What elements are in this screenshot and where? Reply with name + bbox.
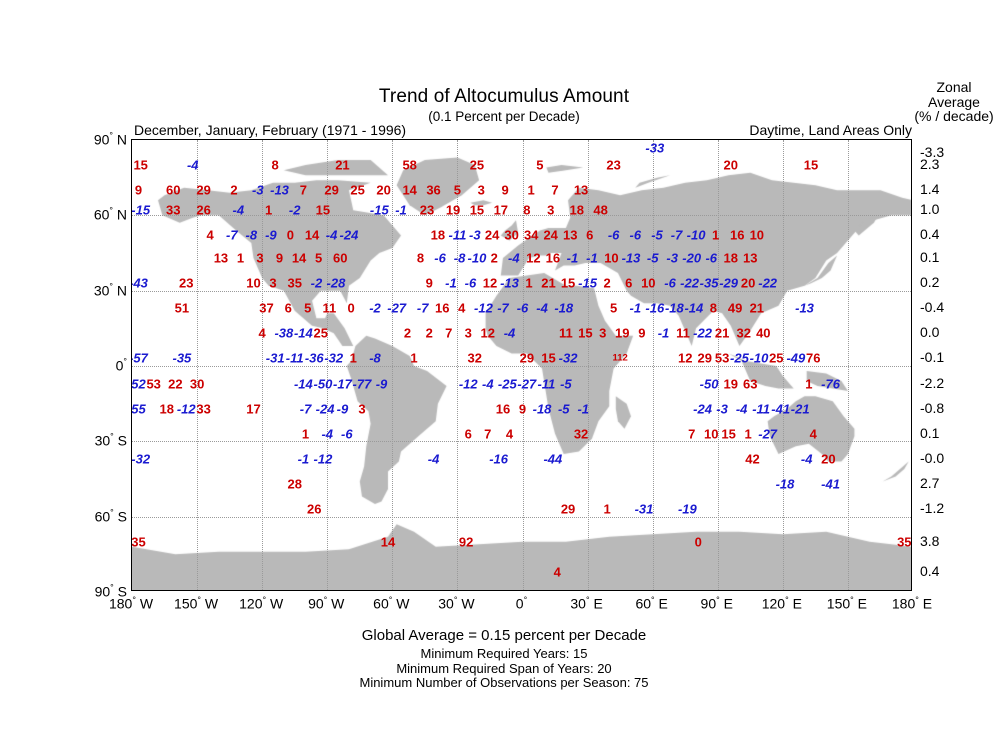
- trend-value: -3: [469, 229, 481, 242]
- trend-value: 8: [710, 302, 717, 315]
- trend-value: 29: [520, 352, 534, 365]
- trend-value: -13: [622, 252, 641, 265]
- trend-value: -6: [664, 277, 676, 290]
- trend-value: -4: [321, 427, 333, 440]
- trend-value: 13: [563, 229, 577, 242]
- trend-value: 40: [756, 327, 770, 340]
- trend-value: 12: [481, 327, 495, 340]
- zonal-average-value: 0.0: [920, 324, 976, 340]
- zonal-average-value: 3.8: [920, 533, 976, 549]
- trend-value: -1: [658, 327, 670, 340]
- gridline-horizontal: [132, 517, 911, 518]
- trend-value: 20: [741, 277, 755, 290]
- trend-value: 35: [897, 535, 911, 548]
- trend-value: -2: [311, 277, 323, 290]
- trend-value: 9: [638, 327, 645, 340]
- trend-value: 48: [593, 204, 607, 217]
- trend-value: 14: [381, 535, 395, 548]
- gridline-vertical: [262, 140, 263, 590]
- map-plot-area: -3315-482158255232015960292-3-1372925201…: [131, 139, 912, 591]
- zonal-average-value: 0.4: [920, 563, 976, 579]
- trend-value: 18: [159, 402, 173, 415]
- trend-value: 13: [574, 184, 588, 197]
- trend-value: 11: [676, 327, 690, 340]
- gridline-horizontal: [132, 366, 911, 367]
- trend-value: 29: [196, 184, 210, 197]
- trend-value: -6: [705, 252, 717, 265]
- trend-value: 25: [769, 352, 783, 365]
- trend-value: 35: [287, 277, 301, 290]
- zonal-average-value: 0.1: [920, 249, 976, 265]
- gridline-horizontal: [132, 291, 911, 292]
- trend-value: 26: [196, 204, 210, 217]
- min-span-text: Minimum Required Span of Years: 20: [0, 662, 1008, 677]
- trend-value: 23: [606, 159, 620, 172]
- trend-value: 5: [454, 184, 461, 197]
- trend-value: -4: [536, 302, 548, 315]
- trend-value: 8: [523, 204, 530, 217]
- zonal-average-value: 1.0: [920, 201, 976, 217]
- latitude-tick-label: 60° N: [73, 206, 127, 223]
- trend-value: -6: [517, 302, 529, 315]
- trend-value: -11: [752, 402, 770, 415]
- trend-value: 12: [678, 352, 692, 365]
- trend-value: -1: [567, 252, 579, 265]
- trend-value: 63: [743, 377, 757, 390]
- trend-value: -18: [554, 302, 573, 315]
- trend-value: -77: [353, 377, 372, 390]
- trend-value: -7: [226, 229, 238, 242]
- trend-value: 3: [269, 277, 276, 290]
- trend-value: -10: [468, 252, 487, 265]
- gridline-horizontal: [132, 215, 911, 216]
- trend-value: 1: [237, 252, 244, 265]
- trend-value: 2: [426, 327, 433, 340]
- trend-value: 14: [292, 252, 306, 265]
- trend-value: -52: [131, 377, 146, 390]
- trend-value: 53: [715, 352, 729, 365]
- zonal-average-value: -0.1: [920, 349, 976, 365]
- trend-value: 1: [410, 352, 417, 365]
- trend-value: 9: [426, 277, 433, 290]
- trend-value: 3: [358, 402, 365, 415]
- trend-value: -43: [131, 277, 148, 290]
- trend-value: -17: [333, 377, 352, 390]
- global-average-text: Global Average = 0.15 percent per Decade: [0, 627, 1008, 644]
- longitude-tick-label: 30° W: [438, 595, 474, 612]
- trend-value: 15: [541, 352, 555, 365]
- trend-value: -14: [294, 327, 313, 340]
- trend-value: -13: [500, 277, 519, 290]
- trend-value: 0: [695, 535, 702, 548]
- trend-value: 1: [265, 204, 272, 217]
- trend-value: -24: [316, 402, 335, 415]
- trend-value: -5: [558, 402, 570, 415]
- trend-value: -20: [682, 252, 701, 265]
- trend-value: -6: [608, 229, 620, 242]
- trend-value: 15: [133, 159, 147, 172]
- trend-value: 1: [712, 229, 719, 242]
- longitude-axis: 180° W150° W120° W90° W60° W30° W0° 30° …: [0, 595, 1008, 619]
- longitude-tick-label: 150° W: [174, 595, 218, 612]
- trend-value: 11: [323, 302, 337, 315]
- trend-value: -11: [286, 352, 304, 365]
- trend-value: -6: [341, 427, 353, 440]
- trend-value: 2: [230, 184, 237, 197]
- trend-value: -12: [459, 377, 478, 390]
- trend-value: -3: [666, 252, 678, 265]
- trend-value: 13: [214, 252, 228, 265]
- zonal-average-value: -0.8: [920, 400, 976, 416]
- trend-value: -11: [537, 377, 555, 390]
- coverage-label: Daytime, Land Areas Only: [749, 122, 912, 138]
- trend-value: -4: [187, 159, 199, 172]
- trend-value: 7: [688, 427, 695, 440]
- trend-value: 7: [484, 427, 491, 440]
- trend-value: 32: [574, 427, 588, 440]
- trend-value: -4: [326, 229, 338, 242]
- trend-value: 2: [491, 252, 498, 265]
- trend-value: -4: [428, 452, 440, 465]
- trend-value: 21: [335, 159, 349, 172]
- trend-value: 15: [721, 427, 735, 440]
- trend-value: -57: [131, 352, 148, 365]
- trend-value: 24: [485, 229, 499, 242]
- trend-value: 33: [196, 402, 210, 415]
- trend-value: 16: [730, 229, 744, 242]
- trend-value: 3: [547, 204, 554, 217]
- trend-value: 6: [465, 427, 472, 440]
- trend-value: -24: [693, 402, 712, 415]
- trend-value: 13: [743, 252, 757, 265]
- trend-value: 10: [750, 229, 764, 242]
- trend-value: 23: [420, 204, 434, 217]
- trend-value: -8: [369, 352, 381, 365]
- trend-value: 3: [599, 327, 606, 340]
- trend-value: 29: [697, 352, 711, 365]
- figure-root: Trend of Altocumulus Amount (0.1 Percent…: [0, 0, 1008, 756]
- trend-value: 10: [604, 252, 618, 265]
- trend-value: -12: [314, 452, 333, 465]
- trend-value: -7: [300, 402, 312, 415]
- trend-value: 29: [324, 184, 338, 197]
- trend-value: 16: [435, 302, 449, 315]
- trend-value: 34: [524, 229, 538, 242]
- zonal-average-value: 2.3: [920, 156, 976, 172]
- trend-value: -22: [693, 327, 712, 340]
- trend-value: 30: [504, 229, 518, 242]
- trend-value: -10: [750, 352, 769, 365]
- trend-value: 3: [465, 327, 472, 340]
- longitude-tick-label: 30° E: [570, 595, 602, 612]
- longitude-tick-label: 180° W: [109, 595, 153, 612]
- trend-value: 5: [610, 302, 617, 315]
- trend-value: -4: [801, 452, 813, 465]
- trend-value: -25: [730, 352, 749, 365]
- trend-value: -16: [645, 302, 664, 315]
- trend-value: 12: [526, 252, 540, 265]
- trend-value: 51: [175, 302, 189, 315]
- gridline-vertical: [653, 140, 654, 590]
- trend-value: 21: [715, 327, 729, 340]
- season-label: December, January, February (1971 - 1996…: [134, 122, 406, 138]
- gridline-vertical: [848, 140, 849, 590]
- trend-value: 6: [586, 229, 593, 242]
- trend-value: 4: [810, 427, 817, 440]
- trend-value: -1: [445, 277, 457, 290]
- trend-value: -1: [395, 204, 407, 217]
- chart-title: Trend of Altocumulus Amount: [0, 86, 1008, 108]
- trend-value: -5: [647, 252, 659, 265]
- trend-value: 21: [750, 302, 764, 315]
- trend-value: -24: [340, 229, 359, 242]
- trend-value: 25: [350, 184, 364, 197]
- trend-value: 7: [445, 327, 452, 340]
- trend-value: 76: [806, 352, 820, 365]
- trend-value: 1: [525, 277, 532, 290]
- trend-value: 42: [745, 452, 759, 465]
- trend-value: -1: [577, 402, 589, 415]
- trend-value: 19: [615, 327, 629, 340]
- trend-value: 10: [704, 427, 718, 440]
- trend-value: 16: [496, 402, 510, 415]
- trend-value: 1: [744, 427, 751, 440]
- trend-value: -19: [678, 503, 697, 516]
- trend-value: 6: [625, 277, 632, 290]
- trend-value: 0: [287, 229, 294, 242]
- trend-value: -31: [635, 503, 654, 516]
- trend-value: 58: [402, 159, 416, 172]
- trend-value: 12: [483, 277, 497, 290]
- trend-value: -27: [758, 427, 777, 440]
- trend-value: -29: [719, 277, 738, 290]
- trend-value: -27: [387, 302, 406, 315]
- trend-value: -35: [172, 352, 191, 365]
- trend-value: 4: [554, 565, 561, 578]
- longitude-tick-label: 0°: [516, 595, 527, 612]
- trend-value: 60: [166, 184, 180, 197]
- trend-value: 10: [246, 277, 260, 290]
- trend-value: -50: [314, 377, 333, 390]
- trend-value: 22: [168, 377, 182, 390]
- trend-value: 32: [737, 327, 751, 340]
- trend-value: 60: [333, 252, 347, 265]
- trend-value: -3: [716, 402, 728, 415]
- longitude-tick-label: 60° E: [635, 595, 667, 612]
- trend-value: 92: [459, 535, 473, 548]
- longitude-tick-label: 120° W: [239, 595, 283, 612]
- trend-value: -2: [289, 204, 301, 217]
- trend-value: -7: [417, 302, 429, 315]
- trend-value: -5: [651, 229, 663, 242]
- trend-value: 32: [468, 352, 482, 365]
- trend-value: 4: [458, 302, 465, 315]
- trend-value: 10: [641, 277, 655, 290]
- trend-value: 28: [287, 478, 301, 491]
- trend-value: -22: [758, 277, 777, 290]
- trend-value: 15: [578, 327, 592, 340]
- trend-value: 8: [417, 252, 424, 265]
- trend-value: 49: [728, 302, 742, 315]
- trend-value: -49: [786, 352, 805, 365]
- trend-value: 5: [536, 159, 543, 172]
- trend-value: -7: [497, 302, 509, 315]
- trend-value: 4: [259, 327, 266, 340]
- zonal-average-value: 0.1: [920, 425, 976, 441]
- trend-value: -2: [369, 302, 381, 315]
- gridline-vertical: [588, 140, 589, 590]
- trend-value: 25: [470, 159, 484, 172]
- trend-value: 18: [431, 229, 445, 242]
- trend-value: 18: [570, 204, 584, 217]
- latitude-tick-label: 60° S: [73, 507, 127, 524]
- trend-value: 29: [561, 503, 575, 516]
- trend-value: 9: [135, 184, 142, 197]
- trend-value: -32: [131, 452, 150, 465]
- gridline-horizontal: [132, 441, 911, 442]
- trend-value: 20: [724, 159, 738, 172]
- trend-value: 9: [519, 402, 526, 415]
- trend-value: -4: [233, 204, 245, 217]
- trend-value: 18: [724, 252, 738, 265]
- trend-value: 15: [316, 204, 330, 217]
- trend-value: 0: [347, 302, 354, 315]
- trend-value: 24: [543, 229, 557, 242]
- trend-value: -9: [265, 229, 277, 242]
- trend-value: -35: [700, 277, 719, 290]
- trend-value: 15: [804, 159, 818, 172]
- trend-value: 19: [446, 204, 460, 217]
- trend-value: -9: [337, 402, 349, 415]
- trend-value: -15: [131, 204, 150, 217]
- trend-value: 19: [724, 377, 738, 390]
- trend-value: -10: [687, 229, 706, 242]
- trend-value: 35: [131, 535, 145, 548]
- trend-value: -13: [270, 184, 289, 197]
- zonal-average-value: 1.4: [920, 181, 976, 197]
- trend-value: -12: [474, 302, 493, 315]
- trend-value: 1: [603, 503, 610, 516]
- trend-value: 3: [478, 184, 485, 197]
- trend-value: 5: [304, 302, 311, 315]
- trend-value: -14: [684, 302, 703, 315]
- trend-value: 17: [494, 204, 508, 217]
- trend-value: 25: [314, 327, 328, 340]
- trend-value: -1: [586, 252, 598, 265]
- trend-value: -5: [560, 377, 572, 390]
- trend-value: -9: [376, 377, 388, 390]
- trend-value: -38: [274, 327, 293, 340]
- trend-value: 30: [190, 377, 204, 390]
- gridline-vertical: [392, 140, 393, 590]
- trend-value: 3: [256, 252, 263, 265]
- min-obs-text: Minimum Number of Observations per Seaso…: [0, 676, 1008, 691]
- longitude-tick-label: 90° W: [308, 595, 344, 612]
- trend-value: 1: [528, 184, 535, 197]
- trend-value: -50: [700, 377, 719, 390]
- trend-value: 9: [502, 184, 509, 197]
- trend-value: 37: [259, 302, 273, 315]
- zonal-average-value: -1.2: [920, 500, 976, 516]
- trend-value: 33: [166, 204, 180, 217]
- trend-value: -18: [665, 302, 684, 315]
- longitude-tick-label: 120° E: [762, 595, 802, 612]
- trend-value: 20: [821, 452, 835, 465]
- trend-value: -4: [736, 402, 748, 415]
- trend-value: 16: [546, 252, 560, 265]
- trend-value: -55: [131, 402, 146, 415]
- trend-value: -21: [791, 402, 810, 415]
- trend-value: -28: [327, 277, 346, 290]
- trend-value: -44: [543, 452, 562, 465]
- trend-value: -3: [252, 184, 264, 197]
- trend-value: 1: [350, 352, 357, 365]
- longitude-tick-label: 150° E: [827, 595, 867, 612]
- trend-value: -6: [630, 229, 642, 242]
- trend-value: -22: [680, 277, 699, 290]
- trend-value: -76: [821, 377, 840, 390]
- latitude-tick-label: 30° S: [73, 432, 127, 449]
- zonal-average-value: 0.4: [920, 226, 976, 242]
- trend-value: -31: [266, 352, 285, 365]
- trend-value: 112: [612, 354, 627, 364]
- trend-value: 7: [551, 184, 558, 197]
- trend-value: -7: [671, 229, 683, 242]
- trend-value: -4: [508, 252, 520, 265]
- longitude-tick-label: 60° W: [373, 595, 409, 612]
- trend-value: -15: [370, 204, 389, 217]
- figure-footer: Global Average = 0.15 percent per Decade…: [0, 627, 1008, 691]
- longitude-tick-label: 90° E: [701, 595, 733, 612]
- trend-value: 1: [805, 377, 812, 390]
- trend-value: -32: [324, 352, 343, 365]
- latitude-tick-label: 30° N: [73, 281, 127, 298]
- trend-value: 7: [300, 184, 307, 197]
- trend-value: 1: [302, 427, 309, 440]
- latitude-tick-label: 0°: [73, 357, 127, 374]
- trend-value: 36: [426, 184, 440, 197]
- trend-value: -33: [645, 141, 664, 154]
- trend-value: -11: [448, 229, 466, 242]
- trend-value: 5: [315, 252, 322, 265]
- trend-value: -36: [305, 352, 324, 365]
- trend-value: 15: [561, 277, 575, 290]
- trend-value: -1: [630, 302, 642, 315]
- trend-value: -41: [771, 402, 790, 415]
- trend-value: 21: [541, 277, 555, 290]
- trend-value: -6: [434, 252, 446, 265]
- trend-value: 26: [307, 503, 321, 516]
- trend-value: 23: [179, 277, 193, 290]
- trend-value: -32: [559, 352, 578, 365]
- trend-value: 4: [506, 427, 513, 440]
- trend-value: 8: [272, 159, 279, 172]
- trend-value: -18: [776, 478, 795, 491]
- trend-value: 6: [285, 302, 292, 315]
- trend-value: -27: [517, 377, 536, 390]
- trend-value: 20: [376, 184, 390, 197]
- trend-value: 17: [246, 402, 260, 415]
- trend-value: 14: [305, 229, 319, 242]
- zonal-average-value: -2.2: [920, 375, 976, 391]
- trend-value: -8: [246, 229, 258, 242]
- latitude-tick-label: 90° N: [73, 131, 127, 148]
- trend-value: -18: [533, 402, 552, 415]
- trend-value: 9: [276, 252, 283, 265]
- trend-value: -15: [578, 277, 597, 290]
- trend-value: 53: [146, 377, 160, 390]
- zonal-average-value: 2.7: [920, 475, 976, 491]
